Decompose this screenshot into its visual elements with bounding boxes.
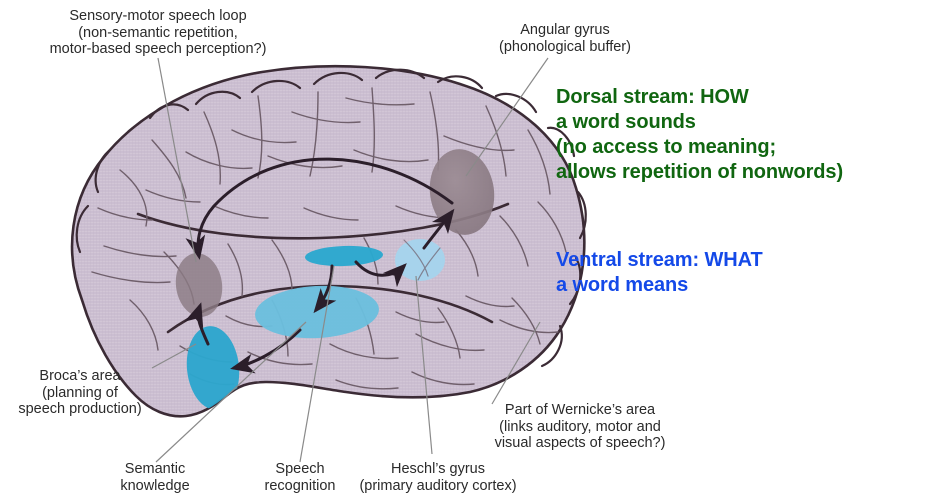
label-sensory-motor-speech-loop: Sensory-motor speech loop (non-semantic … — [50, 8, 267, 58]
ventral-stream-annotation: Ventral stream: WHAT a word means — [556, 248, 763, 298]
label-semantic-knowledge: Semantic knowledge — [120, 461, 189, 494]
label-brocas-area: Broca’s area (planning of speech product… — [18, 368, 141, 418]
label-speech-recognition: Speech recognition — [265, 461, 336, 494]
dorsal-stream-annotation: Dorsal stream: HOW a word sounds (no acc… — [556, 85, 843, 185]
brain-illustration — [0, 0, 927, 500]
label-wernickes-area: Part of Wernicke’s area (links auditory,… — [495, 402, 666, 452]
cortex-body — [72, 66, 586, 416]
label-heschls-gyrus: Heschl’s gyrus (primary auditory cortex) — [359, 461, 516, 494]
label-angular-gyrus: Angular gyrus (phonological buffer) — [499, 22, 631, 55]
figure-canvas: Sensory-motor speech loop (non-semantic … — [0, 0, 927, 500]
